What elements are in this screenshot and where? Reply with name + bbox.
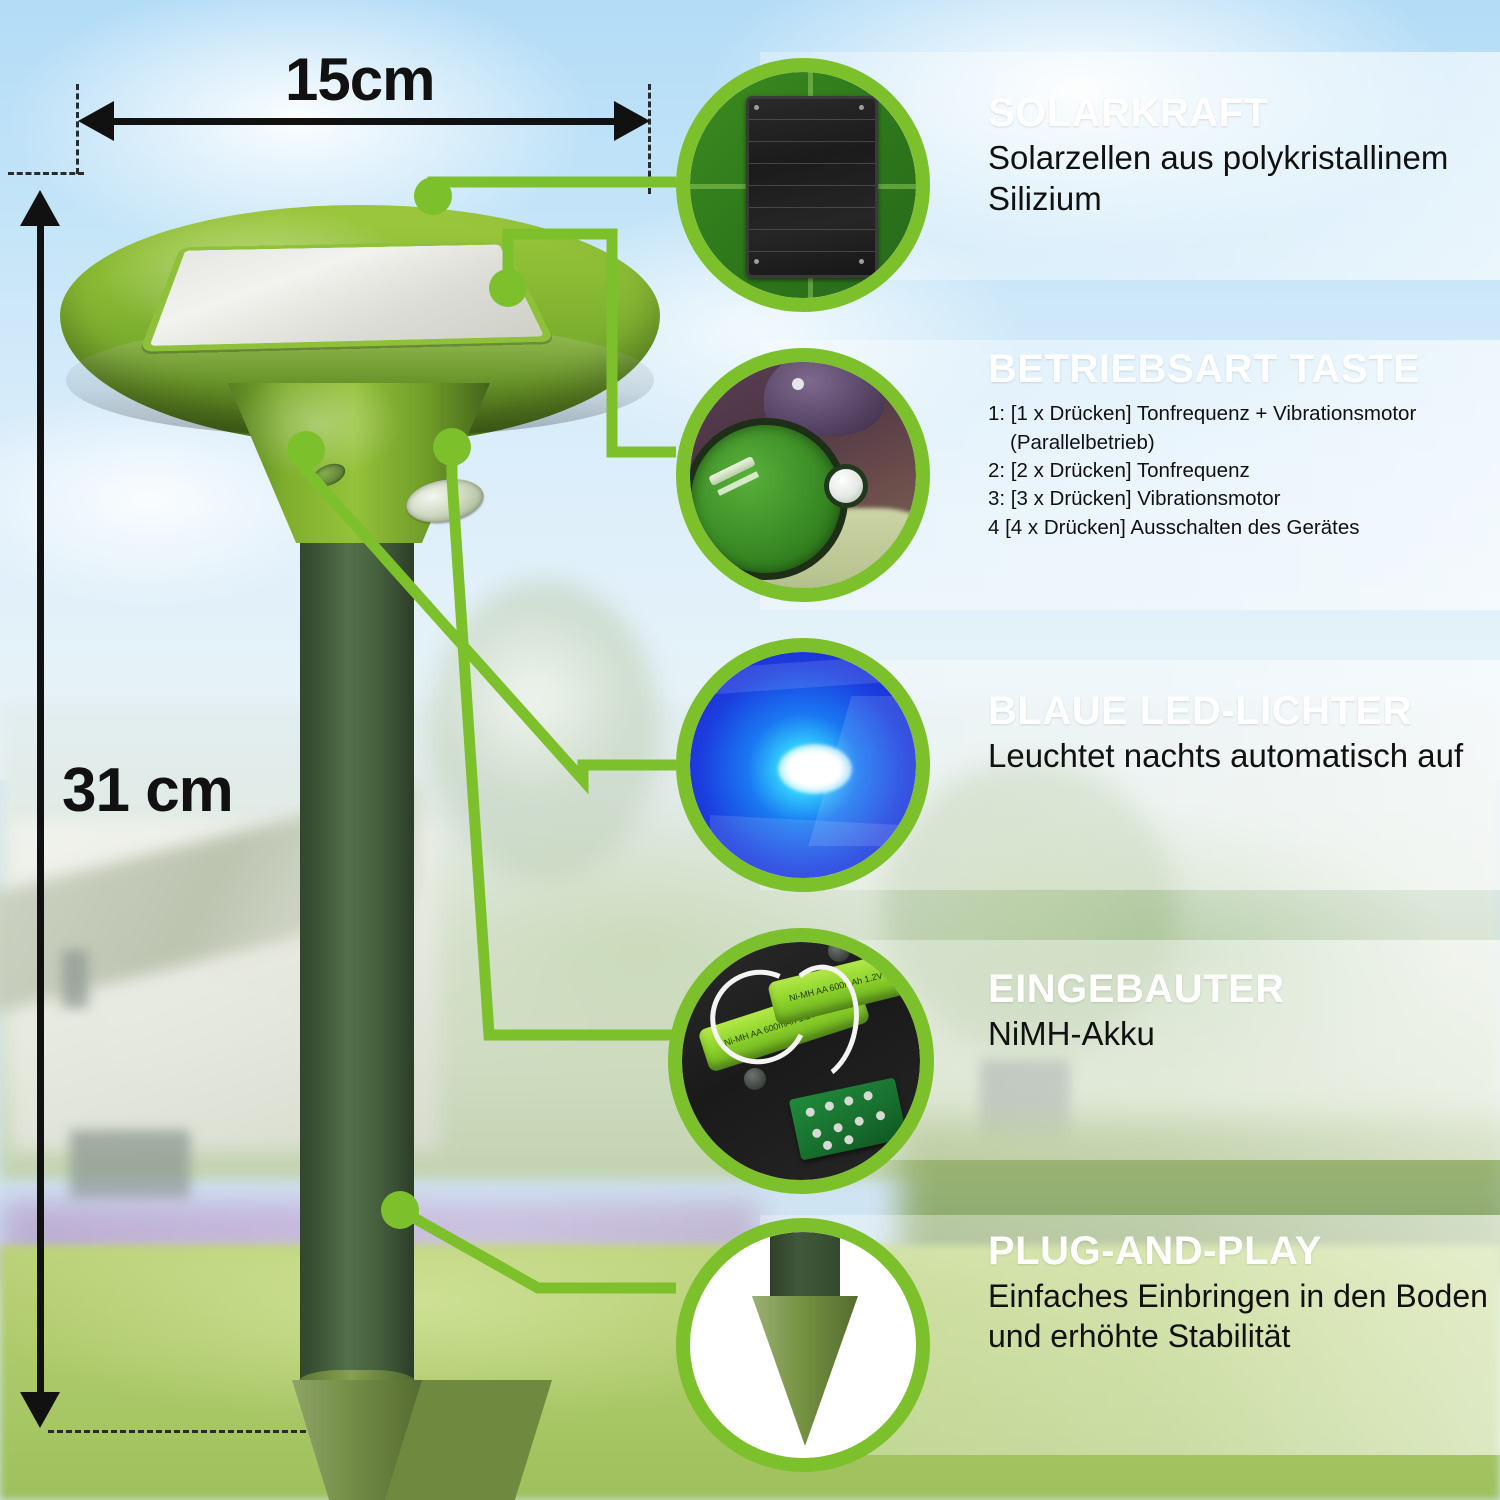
battery-compartment-photo: Ni-MH AA 600mAh 1.2V Ni-MH AA 600mAh 1.2…	[682, 942, 920, 1180]
pcb-pad	[811, 1128, 822, 1139]
pcb-pad	[843, 1096, 854, 1107]
callout-circle-mode-button	[676, 348, 930, 602]
callout-circle-battery: Ni-MH AA 600mAh 1.2V Ni-MH AA 600mAh 1.2…	[668, 928, 934, 1194]
dimension-width-label: 15cm	[285, 45, 434, 114]
button-housing-ring	[690, 418, 848, 580]
led-facet-bottom	[710, 815, 900, 878]
dimension-arrow-height-top-head	[20, 190, 60, 226]
mode-list-item: 1: [1 x Drücken] Tonfrequenz + Vibration…	[988, 400, 1488, 428]
dimension-arrow-width-right-head	[614, 101, 650, 141]
pcb-pad	[805, 1107, 816, 1118]
solar-cell-line	[749, 185, 875, 186]
solar-screw	[754, 259, 759, 264]
ground-spike-photo	[690, 1232, 916, 1458]
blue-led-photo	[690, 652, 916, 878]
pcb-pad	[833, 1122, 844, 1133]
solar-cell-line	[749, 163, 875, 164]
product-shaft	[300, 465, 414, 1405]
led-bright-core	[778, 744, 852, 794]
feature-title-akku: EINGEBAUTER	[988, 968, 1488, 1010]
mode-press-button	[824, 464, 868, 508]
solar-panel-photo	[690, 72, 916, 298]
pcb-pad	[875, 1110, 886, 1121]
feature-title-solarkraft: SOLARKRAFT	[988, 92, 1488, 134]
feature-mode-list: 1: [1 x Drücken] Tonfrequenz + Vibration…	[988, 400, 1488, 541]
mode-list-item: 4 [4 x Drücken] Ausschalten des Gerätes	[988, 514, 1488, 542]
pcb-pad	[824, 1101, 835, 1112]
mode-list-item: 2: [2 x Drücken] Tonfrequenz	[988, 457, 1488, 485]
feature-body-akku: NiMH-Akku	[988, 1014, 1488, 1054]
pcb-pad	[863, 1090, 874, 1101]
callout-circle-blue-led	[676, 638, 930, 892]
feature-title-led: BLAUE LED-LICHTER	[988, 690, 1488, 732]
product-image	[60, 165, 680, 1415]
product-solar-panel	[139, 241, 554, 352]
dimension-arrow-width-left-head	[78, 101, 114, 141]
pcb-pad	[844, 1134, 855, 1145]
feature-body-solarkraft: Solarzellen aus polykristallinem Siliziu…	[988, 138, 1488, 219]
feature-block-akku: EINGEBAUTER NiMH-Akku	[988, 968, 1488, 1055]
feature-block-solarkraft: SOLARKRAFT Solarzellen aus polykristalli…	[988, 92, 1488, 219]
solar-cell-line	[749, 229, 875, 230]
solar-cell-line	[749, 251, 875, 252]
solar-cell-array	[746, 96, 878, 278]
mode-list-item: 3: [3 x Drücken] Vibrationsmotor	[988, 485, 1488, 513]
pcb-pad	[822, 1140, 833, 1151]
dimension-arrow-width-line	[96, 118, 636, 125]
solar-screw	[859, 259, 864, 264]
feature-block-betriebsart: BETRIEBSART TASTE 1: [1 x Drücken] Tonfr…	[988, 348, 1488, 542]
feature-block-led: BLAUE LED-LICHTER Leuchtet nachts automa…	[988, 690, 1488, 777]
feature-block-plug-and-play: PLUG-AND-PLAY Einfaches Einbringen in de…	[988, 1230, 1488, 1356]
solar-cell-line	[749, 141, 875, 142]
callout-circle-solar-panel	[676, 58, 930, 312]
pcb-pad	[854, 1116, 865, 1127]
mode-list-item: (Parallelbetrieb)	[988, 429, 1488, 457]
feature-title-betriebsart: BETRIEBSART TASTE	[988, 348, 1488, 390]
rodent-eye	[792, 378, 804, 390]
solar-cell-line	[749, 207, 875, 208]
feature-title-plug-and-play: PLUG-AND-PLAY	[988, 1230, 1488, 1272]
infographic-canvas: 15cm 31 cm	[0, 0, 1500, 1500]
housing-screw-1	[744, 1068, 766, 1090]
dimension-arrow-height-line	[37, 218, 44, 1408]
feature-body-led: Leuchtet nachts automatisch auf	[988, 736, 1488, 776]
callout-circle-ground-spike	[676, 1218, 930, 1472]
solar-screw	[859, 105, 864, 110]
solar-screw	[754, 105, 759, 110]
solar-cell-line	[749, 119, 875, 120]
dimension-arrow-height-bottom-head	[20, 1392, 60, 1428]
spike-photo-shaft	[770, 1232, 840, 1304]
mode-button-photo	[690, 362, 916, 588]
feature-body-plug-and-play: Einfaches Einbringen in den Boden und er…	[988, 1276, 1488, 1356]
